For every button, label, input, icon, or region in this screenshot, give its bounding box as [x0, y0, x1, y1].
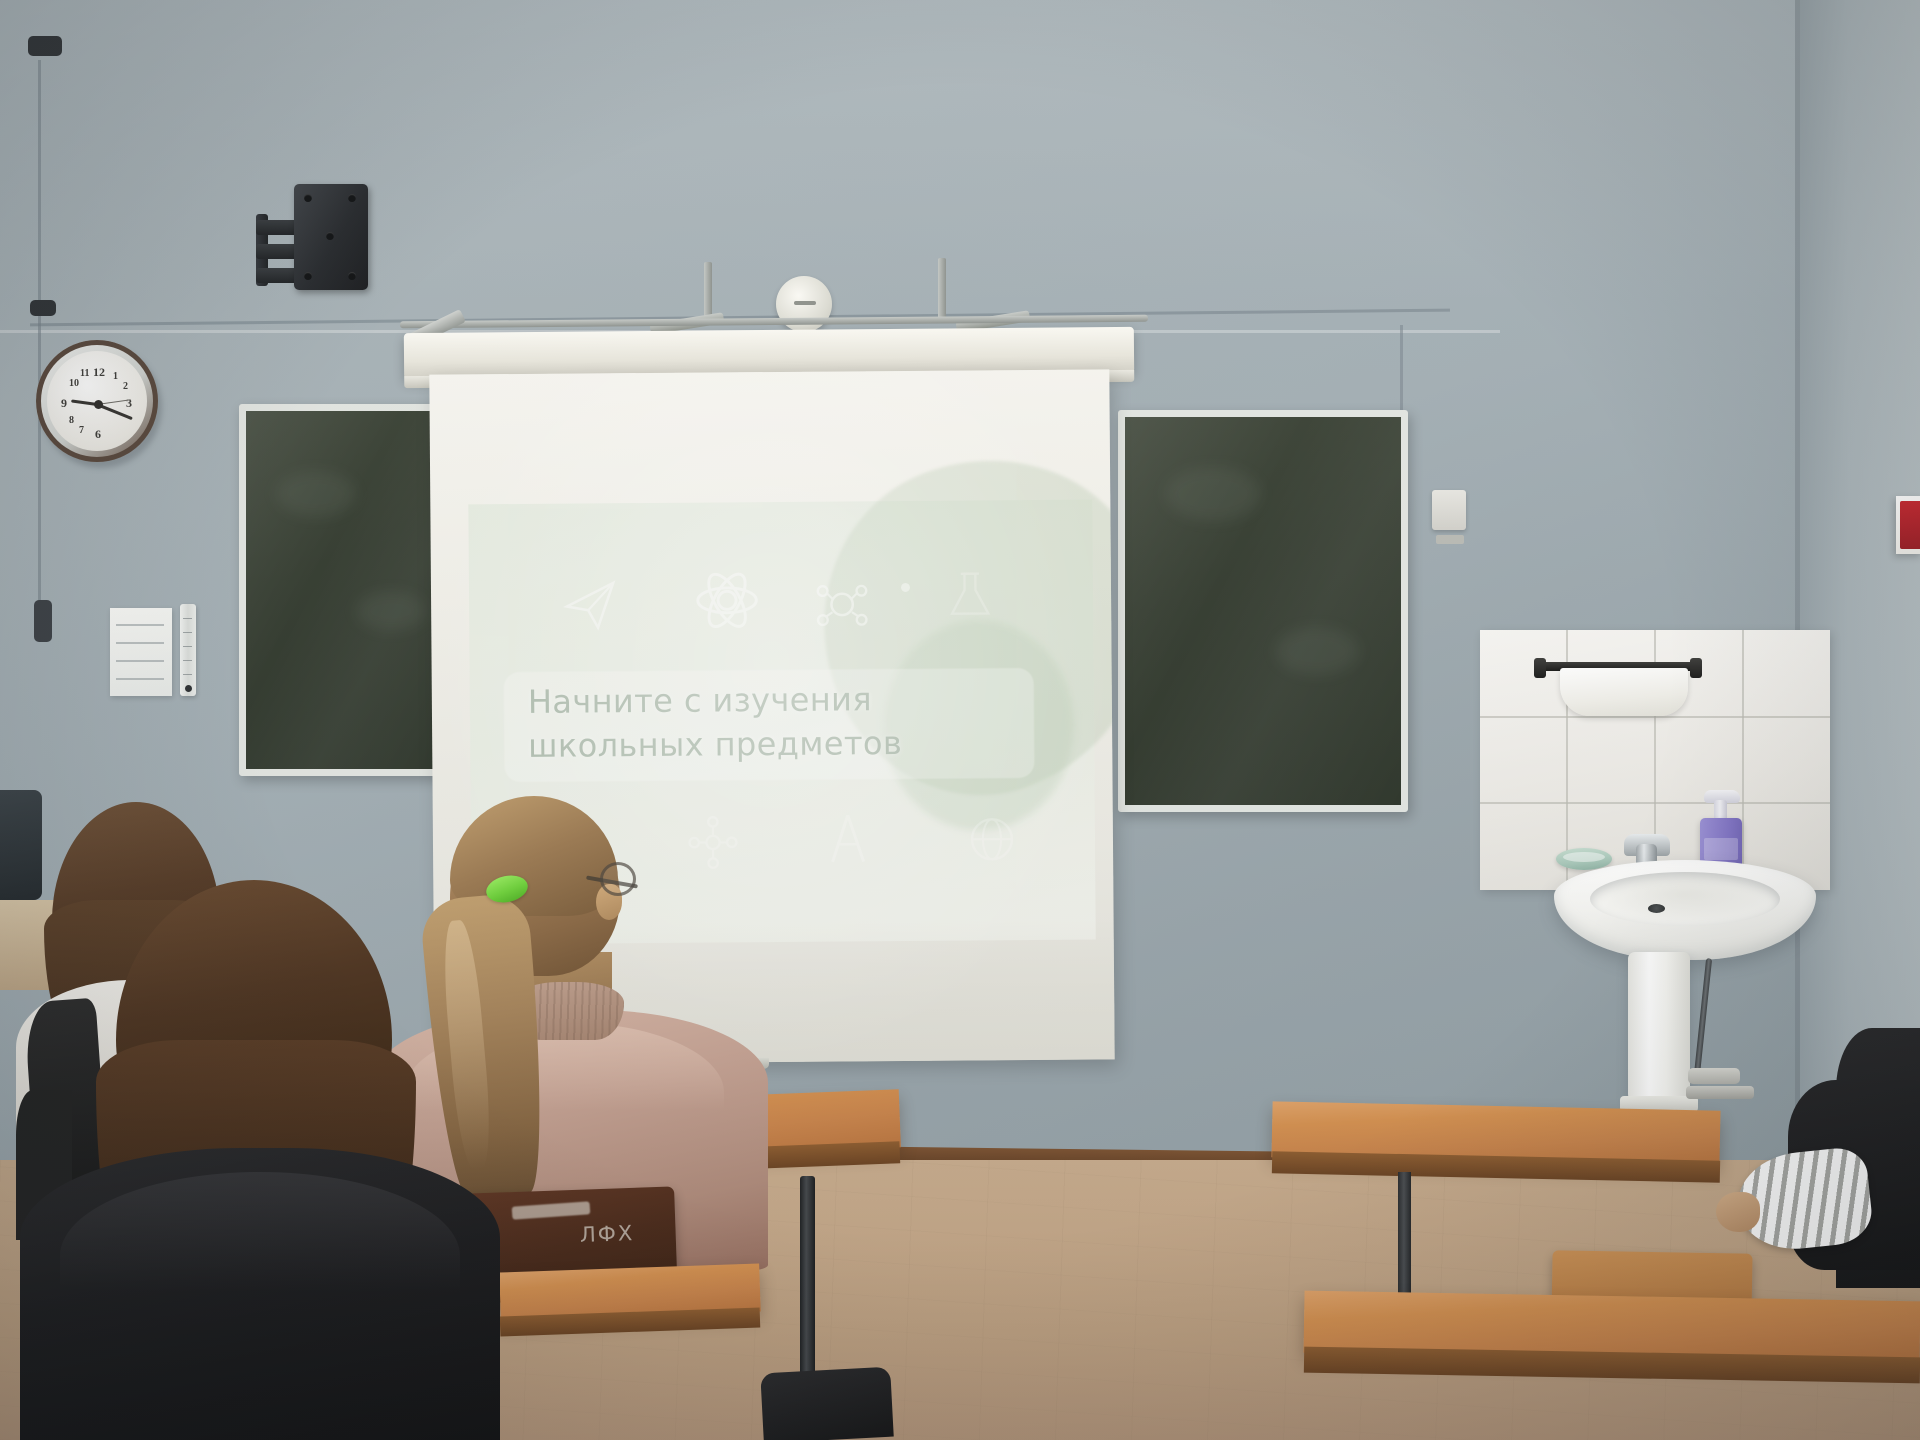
desk-support-pole: [800, 1176, 815, 1376]
clock-numeral: 1: [113, 371, 118, 382]
classroom-photo: 12 1 2 3 6 7 8 9 10 11: [0, 0, 1920, 1440]
clock-numeral: 10: [69, 378, 79, 389]
clock-face: 12 1 2 3 6 7 8 9 10 11: [47, 351, 147, 451]
clock-numeral: 11: [80, 368, 89, 379]
mount-hole-icon: [326, 232, 334, 240]
sink-drain-icon: [1648, 904, 1665, 913]
tile-grout-line: [1480, 716, 1830, 718]
tv-wall-mount-bracket: [256, 184, 368, 292]
wall-thermometer: [180, 604, 196, 696]
slide-dot-icon: [901, 583, 910, 592]
sink-pipe-trap: [1686, 1086, 1754, 1099]
chair-graffiti: ЛФХ: [580, 1221, 635, 1247]
tile-grout-line: [1742, 630, 1744, 890]
wall-clock: 12 1 2 3 6 7 8 9 10 11: [36, 340, 162, 466]
molecule-icon: [811, 573, 873, 635]
clock-numeral: 7: [79, 425, 84, 436]
slide-icon-row-top: [549, 556, 1020, 650]
globe-icon: [963, 810, 1021, 868]
sink-bowl: [1590, 872, 1780, 926]
flask-icon: [941, 566, 999, 624]
sink-pedestal: [1628, 952, 1690, 1104]
compass-icon: [817, 807, 879, 869]
clock-numeral: 12: [93, 365, 105, 380]
mount-hole-icon: [348, 194, 356, 202]
paper-towel[interactable]: [1560, 668, 1688, 716]
thermometer-tick: [183, 618, 192, 619]
glasses-lens-icon: [600, 862, 636, 896]
note-line: [116, 624, 164, 626]
wall-outlet[interactable]: [1432, 490, 1466, 530]
clock-numeral: 8: [69, 415, 74, 426]
thermometer-tick: [183, 674, 192, 675]
cable-clip-icon: [30, 300, 56, 316]
atom-icon: [691, 564, 764, 637]
cable-clip-icon: [34, 600, 52, 642]
left-equipment-edge: [0, 790, 42, 900]
wall-outlet-slot: [1436, 535, 1464, 544]
board-smudge: [1165, 467, 1261, 521]
slide-heading-line-1: Начните с изучения: [528, 676, 1048, 724]
clock-numeral: 9: [61, 396, 67, 411]
chalkboard-right: [1118, 410, 1408, 812]
clock-numeral: 3: [126, 396, 132, 411]
mount-hole-icon: [348, 272, 356, 280]
cable-clip-icon: [28, 36, 62, 56]
thermometer-bulb: [185, 685, 192, 692]
board-smudge: [356, 591, 426, 631]
slide-heading-line-2: школьных предметов: [528, 720, 1048, 768]
foreground-dark-object: [760, 1367, 893, 1440]
note-line: [116, 678, 164, 680]
slide-heading: Начните с изучения школьных предметов: [528, 676, 1049, 768]
mount-plate: [294, 184, 368, 290]
towel-rail-end: [1534, 658, 1546, 678]
clock-numeral: 6: [95, 427, 101, 442]
screen-bracket-post: [938, 258, 946, 320]
sink-pipe-trap: [1688, 1068, 1740, 1084]
note-line: [116, 642, 164, 644]
tile-grout-line: [1480, 802, 1830, 804]
paper-plane-icon: [559, 573, 621, 635]
towel-rail-end: [1690, 658, 1702, 678]
safety-sign-red-panel: [1900, 501, 1920, 549]
student-hand: [1716, 1192, 1760, 1232]
board-smudge: [276, 471, 356, 517]
molecule-icon: [683, 812, 743, 872]
fire-safety-sign: [1896, 496, 1920, 554]
wall-paper-note: [110, 608, 172, 696]
thermometer-tick: [183, 660, 192, 661]
mount-hole-icon: [304, 194, 312, 202]
mount-hole-icon: [304, 272, 312, 280]
board-reflection: [1125, 417, 1401, 805]
clock-center-pin: [94, 400, 103, 409]
wall-corner-edge: [1795, 0, 1800, 1180]
soap-dispenser-label: [1704, 838, 1738, 860]
desk-leg: [1398, 1172, 1411, 1312]
wall-right-column: [1800, 0, 1920, 1180]
clock-numeral: 2: [123, 381, 128, 392]
thermometer-tick: [183, 632, 192, 633]
thermometer-tick: [183, 646, 192, 647]
board-smudge: [1275, 627, 1359, 675]
note-line: [116, 660, 164, 662]
